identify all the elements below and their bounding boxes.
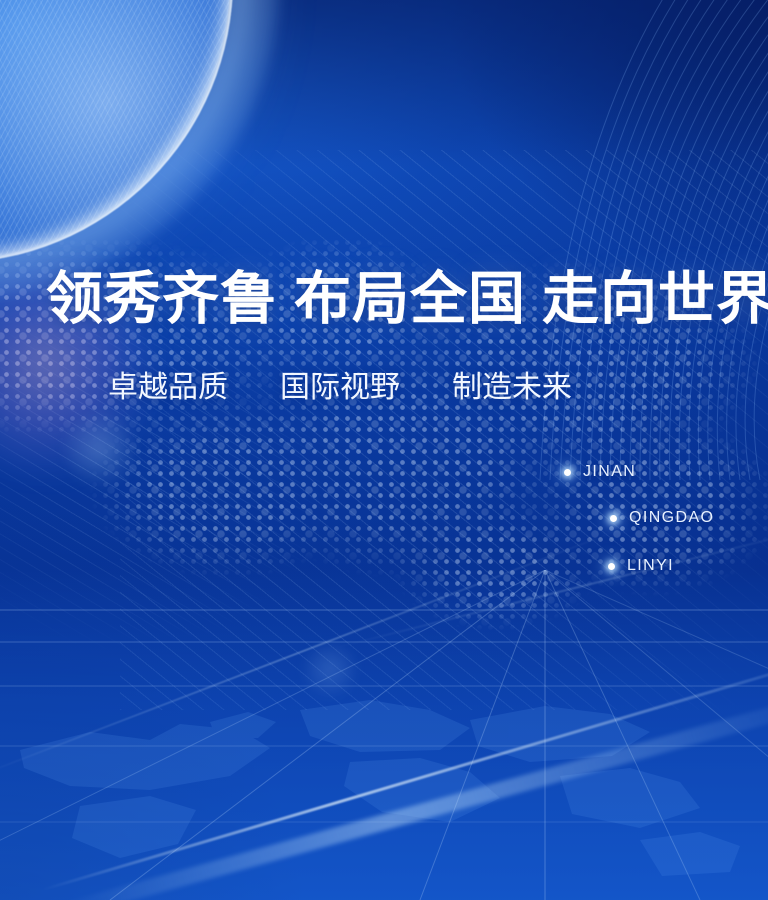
subtitle-segment-2: 国际视野: [280, 370, 400, 405]
location-dot-icon: [564, 469, 571, 476]
city-label-jinan: JINAN: [583, 463, 636, 481]
globe-atmosphere-rim: [0, 0, 233, 263]
page-subtitle: 卓越品质国际视野制造未来: [108, 368, 572, 408]
page-title: 领秀齐鲁布局全国走向世界: [46, 266, 768, 332]
headline-segment-3: 走向世界: [542, 265, 768, 332]
location-dot-icon: [610, 515, 617, 522]
lens-flare-small: [60, 410, 140, 490]
earth-globe-graphic: [0, 0, 230, 260]
city-label-linyi: LINYI: [627, 557, 674, 575]
location-dot-icon: [608, 563, 615, 570]
headline-segment-2: 布局全国: [294, 265, 526, 332]
map-marker-linyi[interactable]: LINYI: [608, 557, 674, 575]
hero-banner: 领秀齐鲁布局全国走向世界 卓越品质国际视野制造未来 JINAN QINGDAO …: [0, 0, 768, 900]
city-label-qingdao: QINGDAO: [629, 509, 714, 527]
subtitle-segment-1: 卓越品质: [108, 370, 228, 405]
subtitle-segment-3: 制造未来: [452, 370, 572, 405]
map-marker-jinan[interactable]: JINAN: [564, 463, 636, 481]
map-marker-qingdao[interactable]: QINGDAO: [610, 509, 714, 527]
headline-segment-1: 领秀齐鲁: [46, 265, 278, 332]
